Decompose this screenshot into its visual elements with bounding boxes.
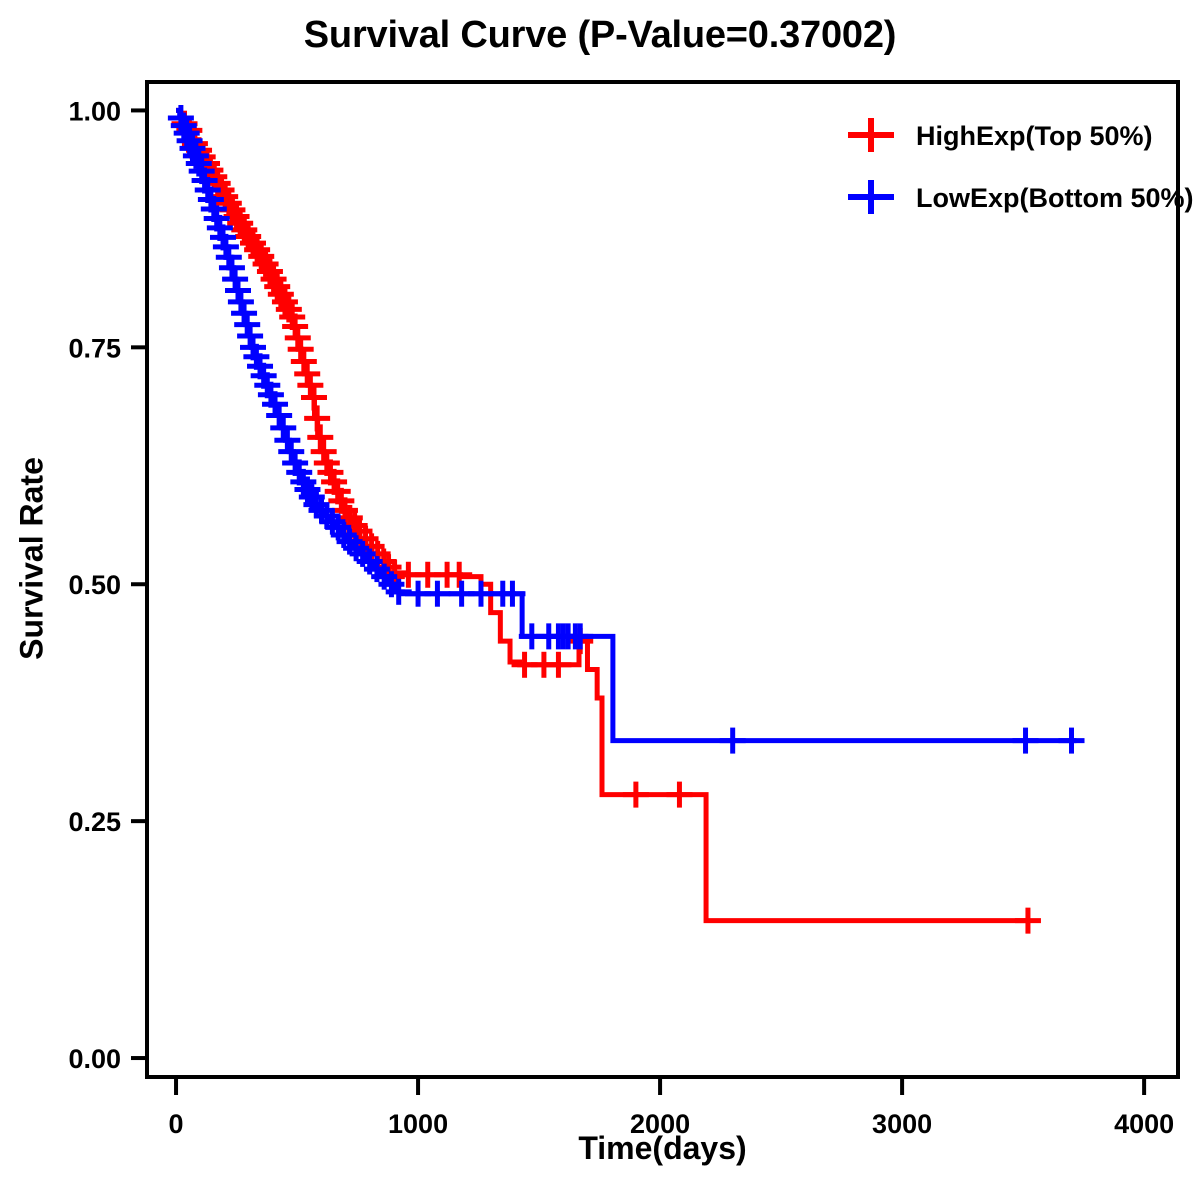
legend-entry[interactable]: HighExp(Top 50%) xyxy=(848,118,1153,152)
y-tick-label: 0.00 xyxy=(68,1044,121,1074)
x-tick-label: 1000 xyxy=(388,1109,448,1139)
plot-area: 0.000.250.500.751.00 01000200030004000 H… xyxy=(0,0,1200,1200)
y-tick-label: 0.75 xyxy=(68,333,121,363)
series-layer xyxy=(168,105,1085,934)
series-highexp xyxy=(172,110,1041,933)
x-axis-ticks: 01000200030004000 xyxy=(169,1077,1175,1139)
legend-label: LowExp(Bottom 50%) xyxy=(916,183,1194,213)
legend-label: HighExp(Top 50%) xyxy=(916,121,1153,151)
x-tick-label: 2000 xyxy=(630,1109,690,1139)
x-tick-label: 3000 xyxy=(872,1109,932,1139)
y-tick-label: 1.00 xyxy=(68,96,121,126)
plot-frame xyxy=(147,82,1178,1077)
y-tick-label: 0.50 xyxy=(68,570,121,600)
chart-legend: HighExp(Top 50%)LowExp(Bottom 50%) xyxy=(848,118,1194,214)
y-axis-ticks: 0.000.250.500.751.00 xyxy=(68,96,147,1074)
y-tick-label: 0.25 xyxy=(68,807,121,837)
legend-entry[interactable]: LowExp(Bottom 50%) xyxy=(848,180,1194,214)
survival-chart-figure: Survival Curve (P-Value=0.37002) Surviva… xyxy=(0,0,1200,1200)
x-tick-label: 0 xyxy=(169,1109,184,1139)
x-tick-label: 4000 xyxy=(1114,1109,1174,1139)
survival-step-line xyxy=(176,110,1030,920)
